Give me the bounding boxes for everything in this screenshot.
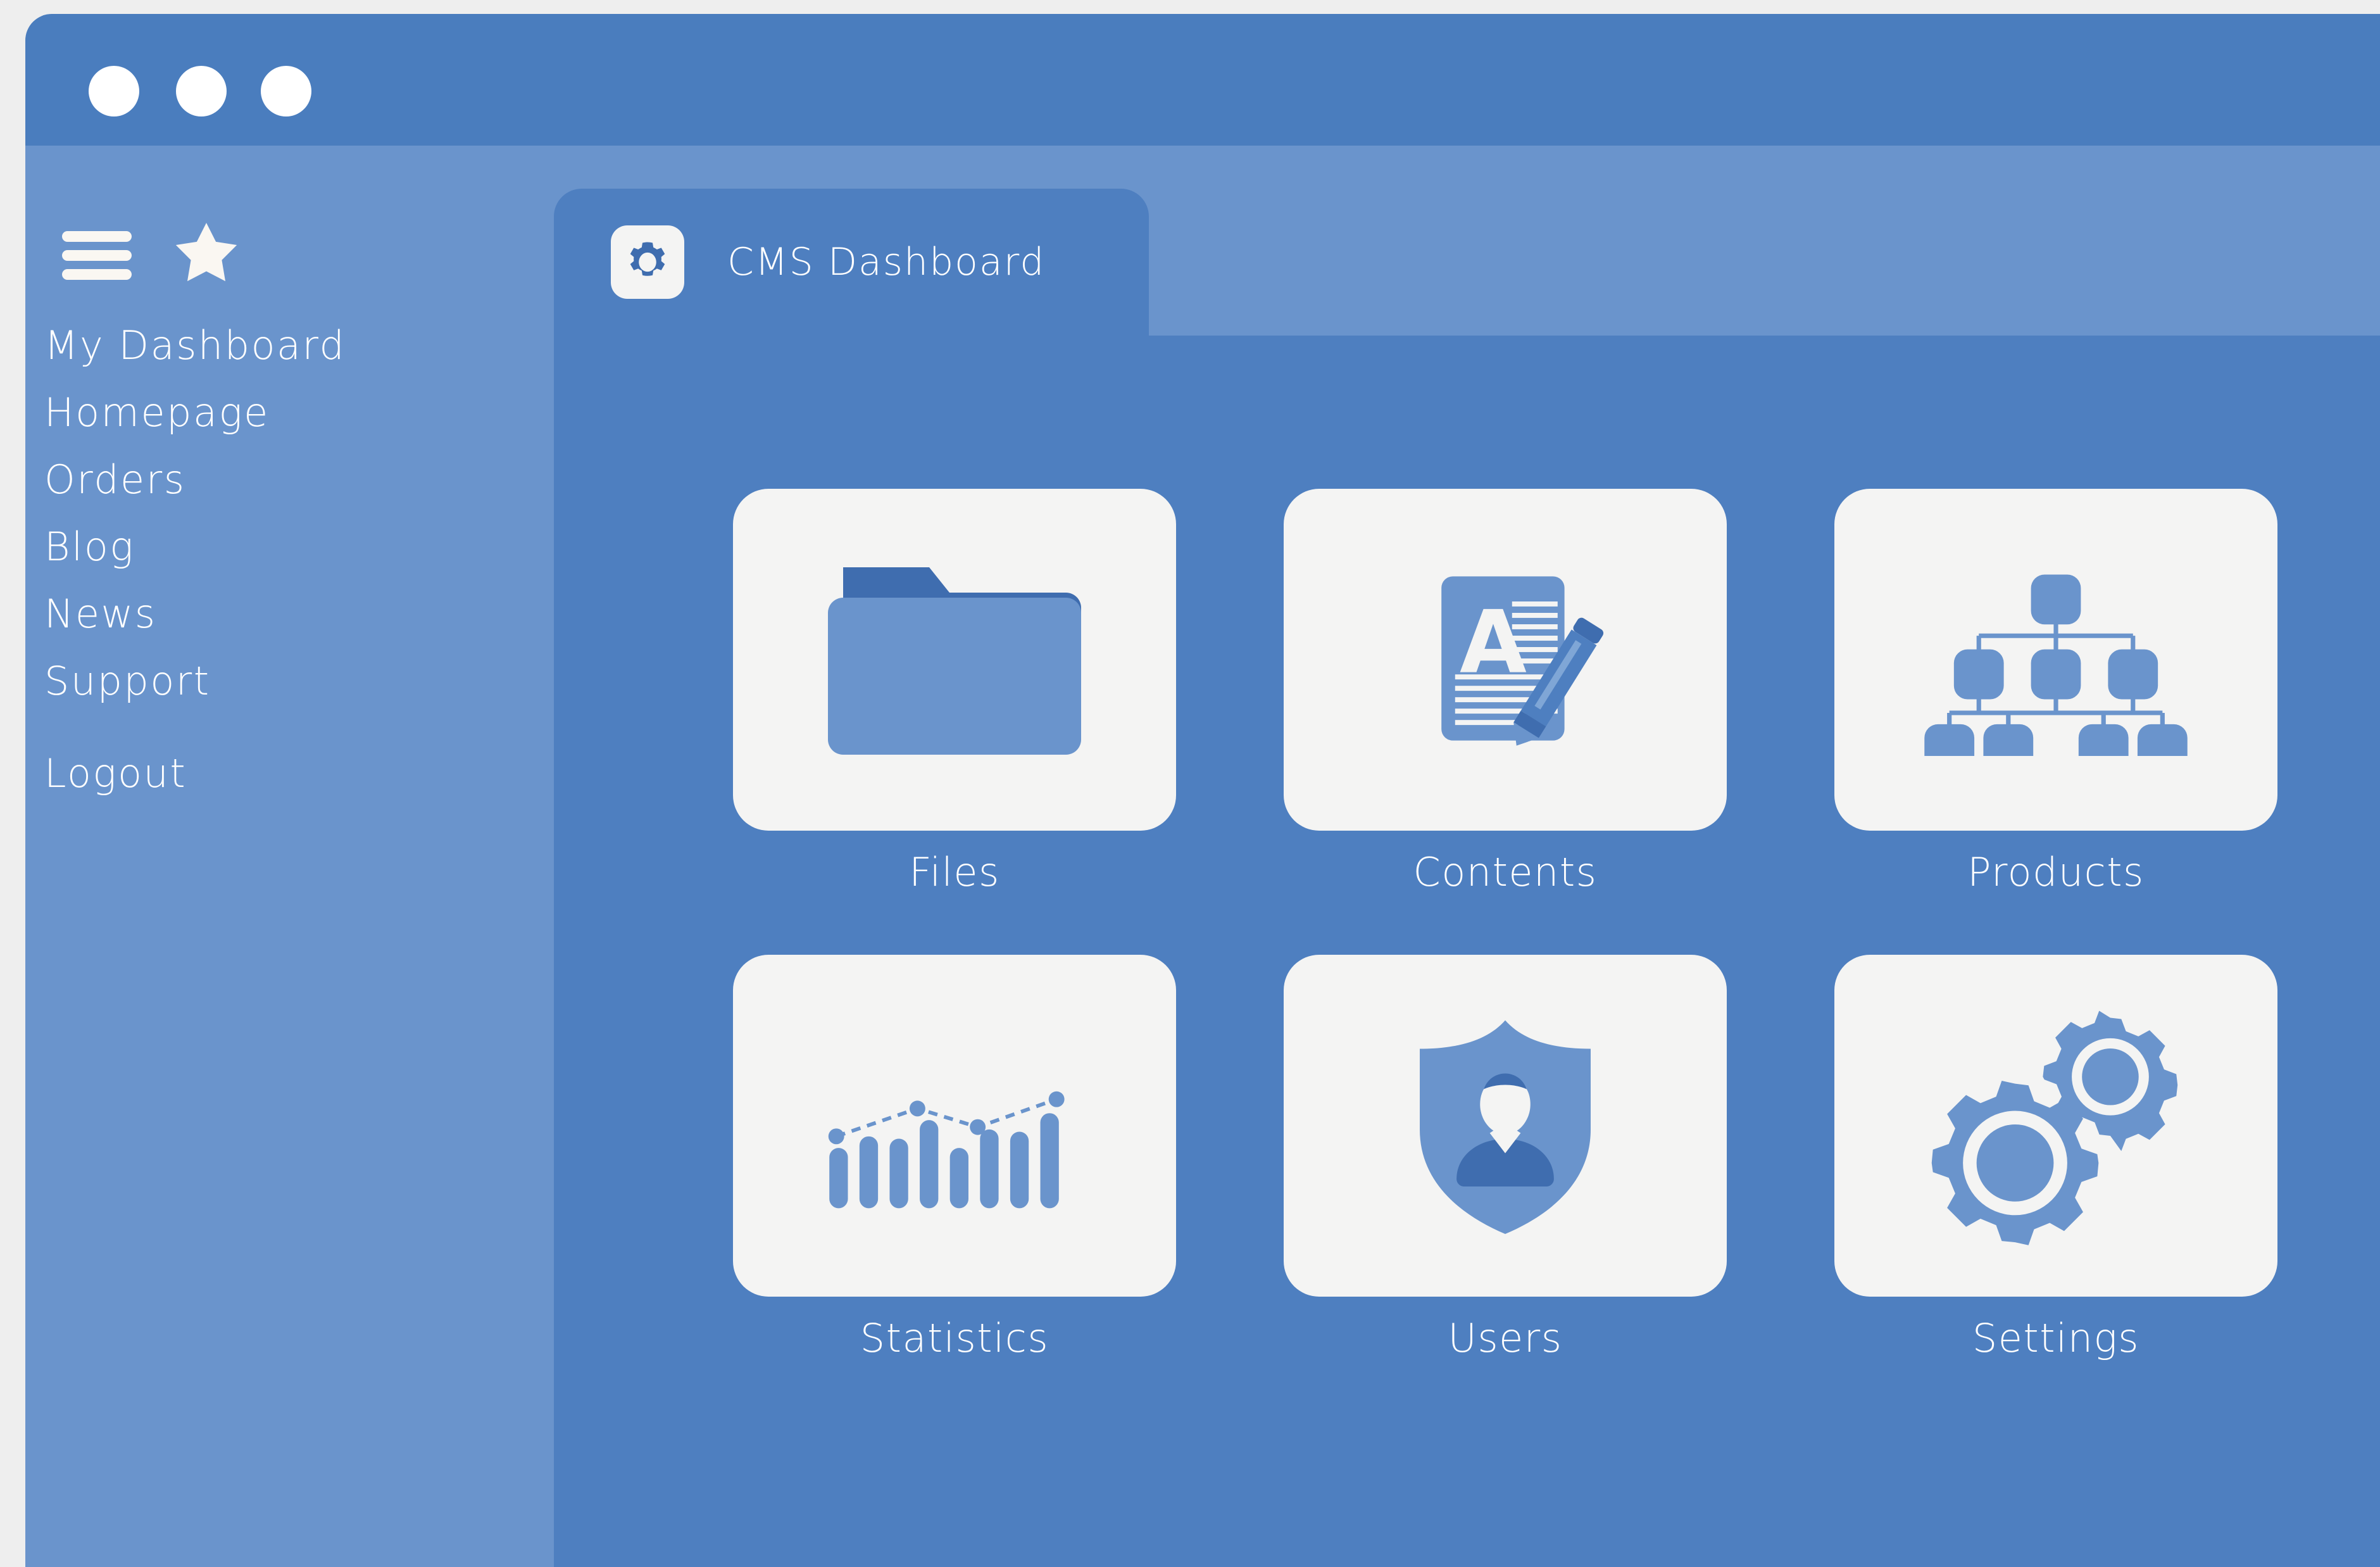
dashboard-card-grid: Files A [733,489,2233,1360]
card-label-products: Products [1834,851,2277,894]
hierarchy-tree-icon [1920,561,2192,758]
close-dot[interactable] [89,66,139,116]
sidebar-item-logout[interactable]: Logout [42,754,570,793]
card-cell-files: Files [733,489,1176,894]
gears-icon [1920,1000,2192,1252]
card-contents[interactable]: A [1284,489,1727,831]
card-label-statistics: Statistics [733,1317,1176,1360]
maximize-dot[interactable] [261,66,311,116]
minimize-dot[interactable] [176,66,227,116]
card-users[interactable] [1284,955,1727,1297]
card-cell-settings: Settings [1834,955,2277,1360]
card-products[interactable] [1834,489,2277,831]
card-cell-statistics: Statistics [733,955,1176,1360]
card-cell-products: Products [1834,489,2277,894]
sidebar-item-support[interactable]: Support [42,662,570,701]
sidebar-item-orders[interactable]: Orders [42,460,570,500]
content-panel: Files A [554,336,2380,1567]
tab-label: CMS Dashboard [727,240,1045,284]
document-pen-icon: A [1391,544,1619,775]
sidebar-item-homepage[interactable]: Homepage [42,393,570,432]
card-cell-users: Users [1284,955,1727,1360]
sidebar: My Dashboard Homepage Orders Blog News S… [25,146,554,1567]
gear-icon [611,225,684,299]
shield-user-icon [1410,1016,1600,1237]
card-settings[interactable] [1834,955,2277,1297]
card-label-users: Users [1284,1317,1727,1360]
tab-strip: CMS Dashboard [554,146,2380,336]
tab-cms-dashboard[interactable]: CMS Dashboard [554,189,1149,336]
sidebar-toolbar [62,220,241,286]
hamburger-menu-icon[interactable] [62,229,132,278]
sidebar-item-blog[interactable]: Blog [42,527,570,567]
card-label-contents: Contents [1284,851,1727,894]
card-label-files: Files [733,851,1176,894]
card-cell-contents: A [1284,489,1727,894]
sidebar-item-news[interactable]: News [42,595,570,634]
card-statistics[interactable] [733,955,1176,1297]
window-titlebar [25,14,2380,146]
card-files[interactable] [733,489,1176,831]
card-label-settings: Settings [1834,1317,2277,1360]
folder-icon [828,552,1081,767]
bar-chart-icon [815,1032,1094,1220]
star-icon[interactable] [172,220,241,286]
sidebar-nav: My Dashboard Homepage Orders Blog News S… [42,326,570,821]
sidebar-item-my-dashboard[interactable]: My Dashboard [42,326,570,365]
app-window: My Dashboard Homepage Orders Blog News S… [25,14,2380,1567]
